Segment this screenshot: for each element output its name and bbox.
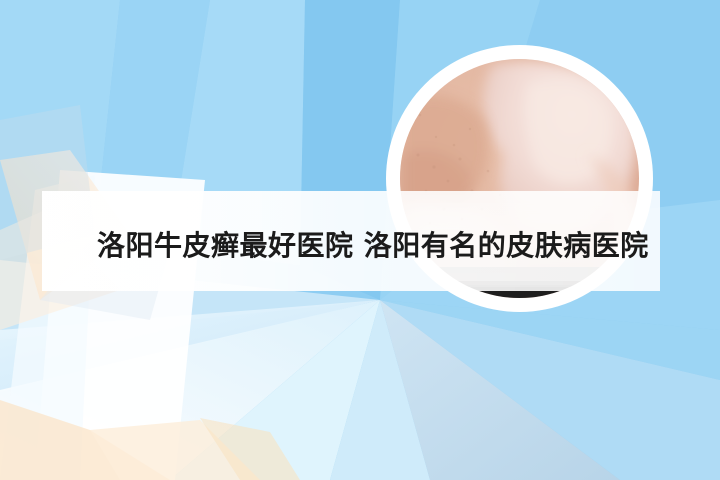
banner-image: 洛阳牛皮癣最好医院 洛阳有名的皮肤病医院 [0, 0, 720, 480]
page-title: 洛阳牛皮癣最好医院 洛阳有名的皮肤病医院 [97, 228, 657, 264]
